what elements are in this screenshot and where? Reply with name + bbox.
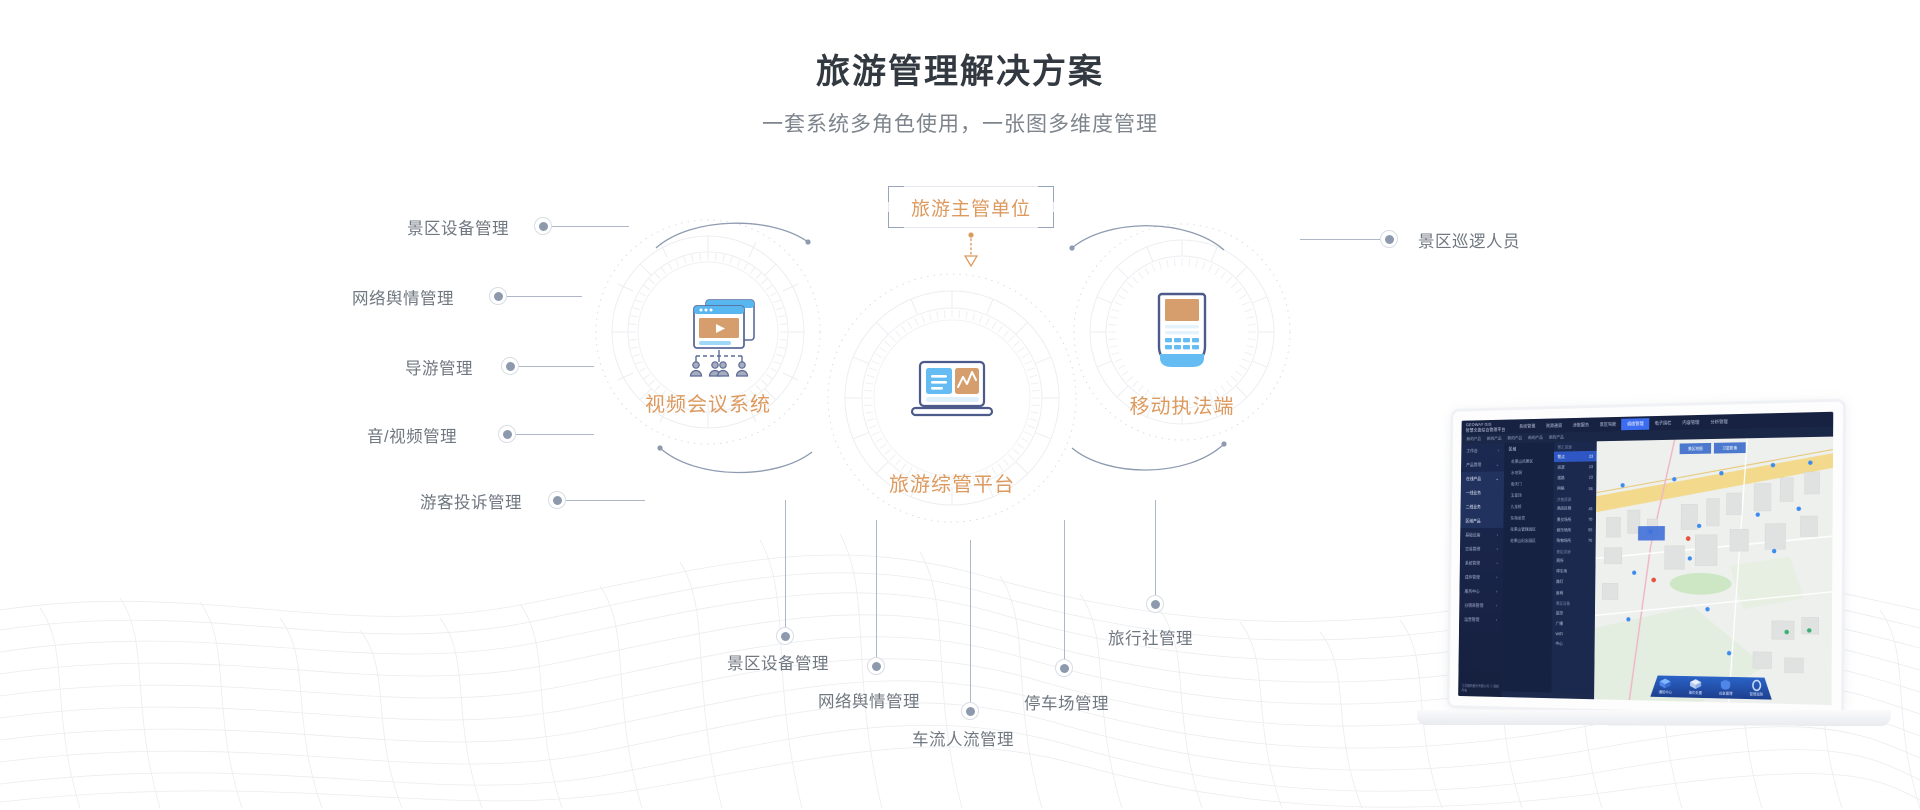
laptop-base [1417,710,1891,726]
sidebar-item[interactable]: 一线业务 [1461,485,1504,500]
right-line-0 [1300,239,1380,240]
chevron-right-icon: › [1496,617,1497,623]
resource-item[interactable]: 路灯 [1553,577,1596,588]
chevron-right-icon: › [1497,546,1498,552]
resource-item[interactable]: 酒店民宿45 [1553,503,1596,514]
screen-tab[interactable]: 新的产品 [1507,435,1522,441]
chevron-right-icon: › [1496,574,1497,580]
resource-item[interactable]: 景交场所78 [1553,514,1596,525]
bottom-line-0 [785,500,786,628]
laptop-screen: GEOWAY GIS 智慧文旅综合管理平台 系统管理 资源通道 涉旅服务 景区驾… [1458,412,1833,705]
sidebar-item[interactable]: 服务中心› [1459,584,1502,598]
sidebar-item[interactable]: 在线产品⌄ [1461,471,1504,486]
left-line-4 [566,500,645,501]
page-title: 旅游管理解决方案 [0,44,1920,93]
handheld-terminal-icon [1152,290,1212,372]
screen-tab[interactable]: 新的产品 [1467,436,1481,442]
screen-nav-item-active[interactable]: 调度管理 [1622,418,1650,430]
sidebar-item[interactable]: 运营管理› [1459,612,1502,627]
chevron-right-icon: › [1498,447,1499,453]
video-conference-icon [684,294,760,378]
sidebar-item[interactable]: 区域产品 [1460,514,1503,528]
resource-item[interactable]: 警点23 [1554,451,1597,462]
screen-nav-item[interactable]: 电子围栏 [1649,417,1677,429]
screen-nav-item[interactable]: 系统管理 [1514,420,1541,432]
resource-group-title: 景区设备 [1552,598,1595,608]
screen-tab[interactable]: 新的产品 [1528,435,1543,441]
sidebar-item[interactable]: 产品管理⌄ [1461,457,1504,472]
arc-connector-right-bottom [1068,438,1228,480]
left-dot-4 [548,491,566,509]
resource-item[interactable]: 厕所 [1553,556,1596,567]
left-dot-3 [498,425,516,443]
screen-footer: 江苏图新股份有限公司 ⓒ 版权所有 [1462,684,1500,693]
dock-item[interactable]: 事件处置 [1689,678,1703,696]
dock-item[interactable]: 通知中心 [1659,677,1672,695]
node-caption-mobile: 移动执法端 [1072,390,1292,419]
bottom-label-4: 旅行社管理 [1108,625,1193,649]
screen-nav-item[interactable]: 涉旅服务 [1567,419,1594,431]
screen-resource-list[interactable]: 警汇资源 警点23 巡逻23 道路23 网格56 涉旅资源 酒店民宿45 景交场… [1551,441,1596,693]
left-label-0: 景区设备管理 [407,215,509,239]
bottom-label-0: 景区设备管理 [727,650,829,674]
bottom-line-3 [1064,520,1065,660]
screen-logo: GEOWAY GIS 智慧文旅综合管理平台 [1462,422,1506,433]
bottom-label-1: 网络舆情管理 [818,688,920,712]
sidebar-item[interactable]: 系统管理› [1460,556,1503,570]
left-label-4: 游客投诉管理 [420,489,522,513]
screen-nav-item[interactable]: 资源通道 [1540,420,1567,432]
left-label-1: 网络舆情管理 [352,285,454,309]
left-label-3: 音/视频管理 [367,423,457,447]
bottom-dot-1 [867,657,885,675]
left-line-1 [507,296,582,297]
resource-item[interactable]: 座椅 [1552,588,1595,599]
map-pill[interactable]: 卫星影像 [1714,442,1746,453]
map-dock[interactable]: 通知中心 事件处置 应急管理 智慧巡防 [1650,675,1772,699]
bottom-dot-0 [776,627,794,645]
sidebar-item[interactable]: 基础设备› [1460,528,1503,542]
laptop-dashboard-icon [910,360,994,428]
map-view-toggle[interactable]: 景区地图 卫星影像 [1680,442,1746,454]
left-dot-0 [534,217,552,235]
sidebar-item[interactable]: 成件管理› [1460,570,1503,584]
bottom-line-1 [876,520,877,658]
resource-item[interactable]: 网格56 [1554,483,1597,494]
chevron-right-icon: › [1497,532,1498,538]
node-caption-platform: 旅游综管平台 [826,468,1078,497]
bottom-line-2 [970,540,971,703]
resource-item[interactable]: 停车场 [1553,566,1596,577]
dock-item[interactable]: 应急管理 [1719,679,1733,697]
cube-icon [1689,678,1702,690]
authority-arrow [960,232,982,272]
bottom-label-3: 停车场管理 [1024,690,1109,714]
resource-group-title: 涉旅资源 [1553,494,1596,504]
chevron-down-icon: ⌄ [1496,462,1499,468]
resource-group-title: 景区资源 [1553,546,1596,556]
screen-map[interactable]: 景区地图 卫星影像 通知中心 事件处置 [1594,437,1833,705]
screen-tab[interactable]: 新的产品 [1487,436,1502,442]
chevron-right-icon: › [1496,589,1497,595]
arc-connector-left-top [652,212,812,252]
page-subtitle: 一套系统多角色使用，一张图多维度管理 [0,108,1920,138]
bottom-dot-3 [1055,659,1073,677]
dock-item[interactable]: 智慧巡防 [1750,679,1764,697]
sidebar-item[interactable]: 工作台› [1461,443,1504,458]
sidebar-item[interactable]: 交易管理› [1460,542,1503,556]
sidebar-item[interactable]: 分销商管理› [1459,598,1502,612]
screen-region-panel[interactable]: 区域 花果山风景区 水帘洞 南天门 玉皇顶 九龙桥 东海龙宫 花果山管辖园区 花… [1501,441,1596,693]
screen-nav-item[interactable]: 内容管理 [1677,416,1705,428]
map-pill[interactable]: 景区地图 [1680,443,1712,454]
screen-nav-item[interactable]: 景区驾舱 [1594,418,1621,430]
bottom-dot-4 [1146,595,1164,613]
screen-tab[interactable]: 新的产品 [1549,434,1564,440]
resource-item[interactable]: 道路23 [1554,472,1597,483]
resource-item[interactable]: 巡逻23 [1554,462,1597,473]
right-label-0: 景区巡逻人员 [1418,228,1520,252]
sidebar-item[interactable]: 二线业务 [1460,500,1503,514]
resource-item[interactable]: 娱乐场所55 [1553,525,1596,536]
chevron-right-icon: › [1496,603,1497,609]
left-label-2: 导游管理 [405,355,473,379]
screen-sidebar[interactable]: 工作台› 产品管理⌄ 在线产品⌄ 一线业务 二线业务 区域产品 基础设备› 交易… [1458,443,1504,697]
arc-connector-right-top [1068,214,1228,256]
resource-item[interactable]: 监控 [1552,608,1595,619]
authority-label: 旅游主管单位 [911,194,1031,221]
left-line-2 [519,366,594,367]
box-icon [1659,677,1672,689]
shield-icon [1719,679,1732,691]
right-dot-0 [1380,230,1398,248]
resource-item[interactable]: WIFI [1552,629,1595,639]
arc-connector-left-bottom [656,442,816,484]
map-canvas[interactable] [1594,437,1833,705]
bottom-label-2: 车流人流管理 [912,726,1014,750]
left-line-3 [516,434,594,435]
chevron-right-icon: › [1496,560,1497,566]
authority-box: 旅游主管单位 [888,186,1054,228]
left-dot-1 [489,287,507,305]
solution-diagram-page: 旅游管理解决方案 一套系统多角色使用，一张图多维度管理 旅游主管单位 [0,0,1920,810]
resource-item[interactable]: 中心 [1552,639,1595,650]
left-line-0 [552,226,629,227]
screen-nav-item[interactable]: 分析管理 [1705,416,1733,428]
left-dot-2 [501,357,519,375]
resource-item[interactable]: 广播 [1552,618,1595,629]
node-caption-video: 视频会议系统 [594,388,822,417]
bottom-dot-2 [961,702,979,720]
laptop-lid: GEOWAY GIS 智慧文旅综合管理平台 系统管理 资源通道 涉旅服务 景区驾… [1447,399,1846,719]
ring-icon [1750,679,1763,691]
laptop-mockup: GEOWAY GIS 智慧文旅综合管理平台 系统管理 资源通道 涉旅服务 景区驾… [1355,398,1900,780]
resource-item[interactable]: 购物场所76 [1553,535,1596,546]
bottom-line-4 [1155,500,1156,596]
chevron-down-icon: ⌄ [1496,476,1499,482]
